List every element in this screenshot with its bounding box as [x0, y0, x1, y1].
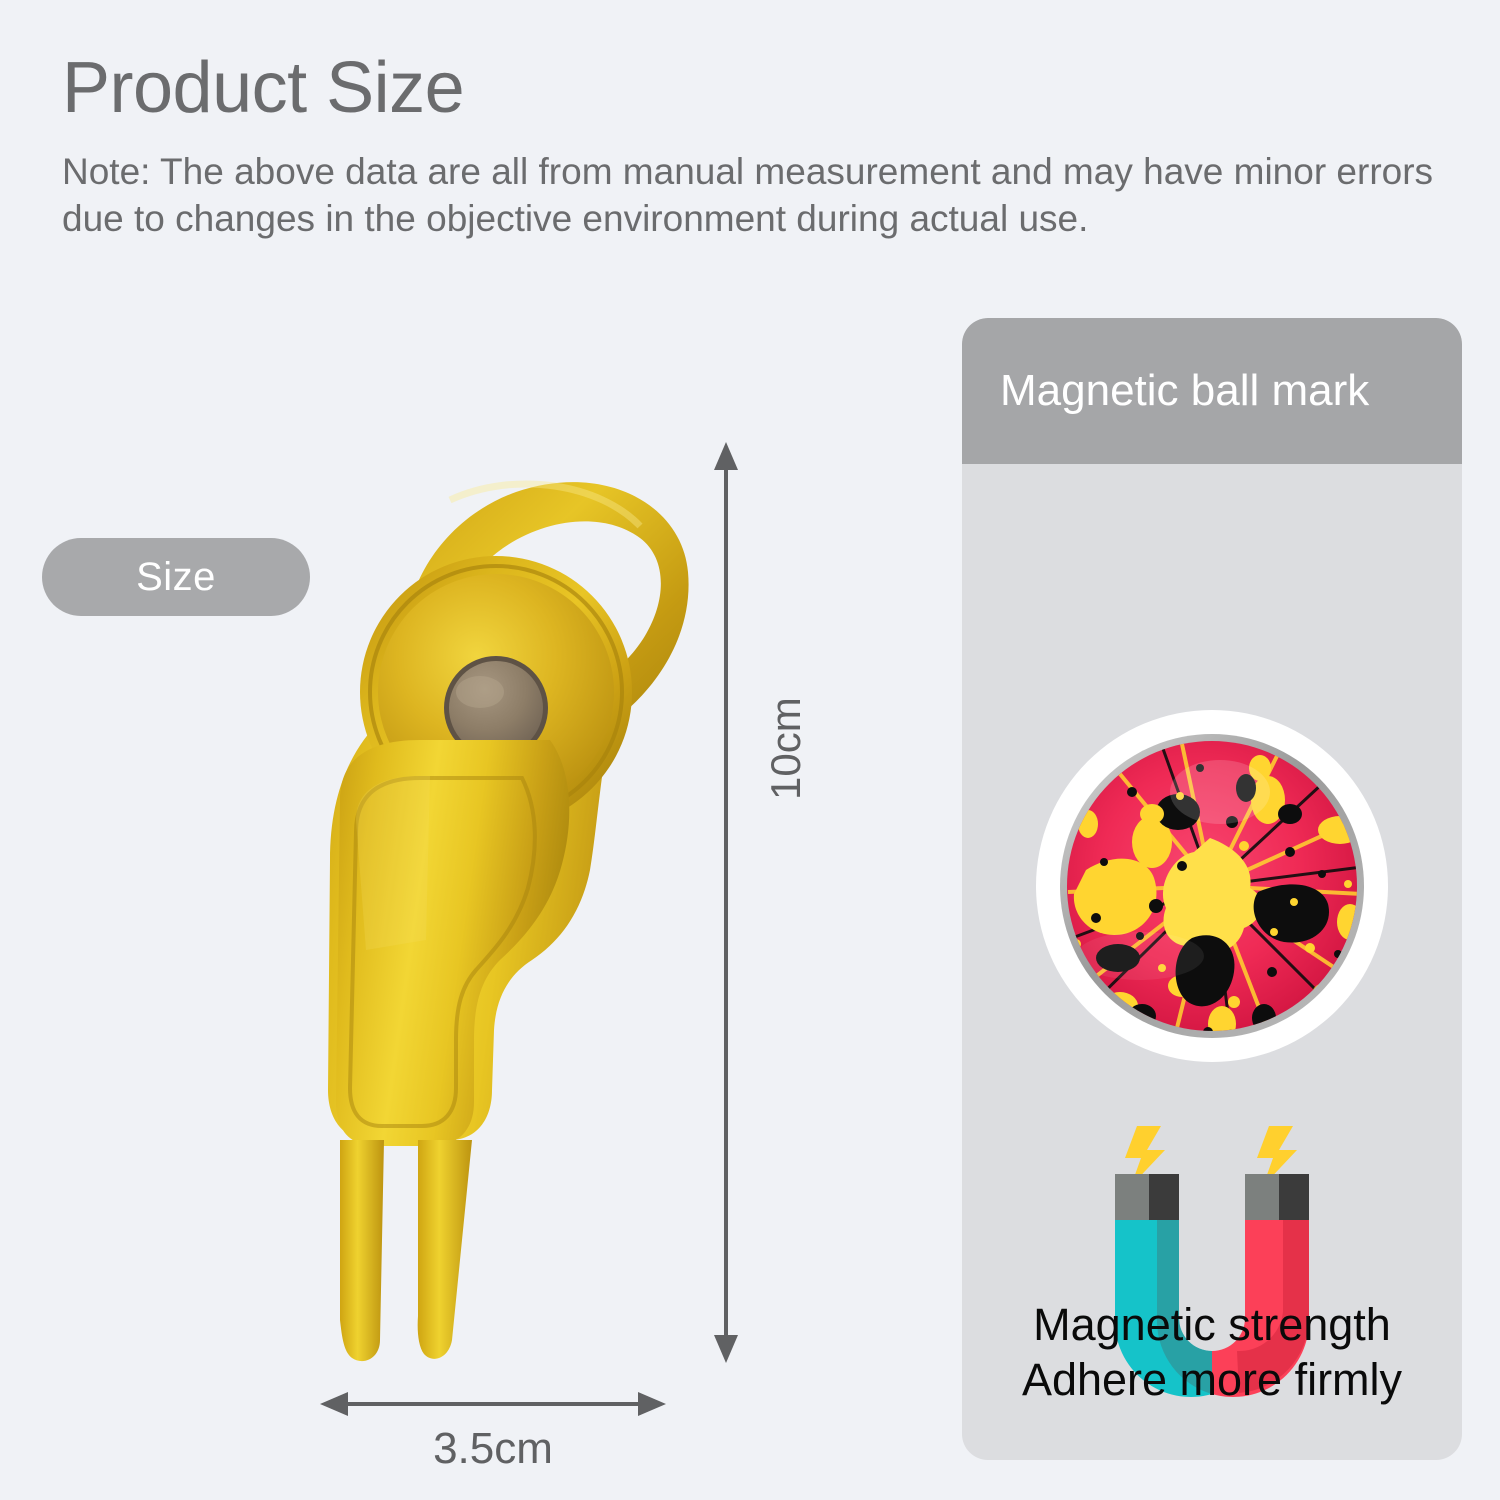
tool-prong-left — [340, 1140, 384, 1361]
size-badge-label: Size — [136, 555, 216, 600]
dimension-line-vertical — [700, 440, 756, 1365]
ball-marker-image — [1032, 706, 1392, 1066]
product-image-golf-divot-tool — [300, 440, 720, 1400]
dimension-label-width: 3.5cm — [318, 1424, 668, 1474]
panel-body: Magnetic strength Adhere more firmly — [962, 464, 1462, 1460]
tool-prong-right — [418, 1140, 472, 1359]
panel-header: Magnetic ball mark — [962, 318, 1462, 464]
caption-line-2: Adhere more firmly — [962, 1353, 1462, 1408]
dimension-arrow-horizontal-svg — [318, 1382, 668, 1426]
page-title: Product Size — [62, 52, 1462, 124]
dim-v-arrow-bottom — [714, 1335, 738, 1363]
panel-caption: Magnetic strength Adhere more firmly — [962, 1298, 1462, 1408]
dim-h-arrow-left — [320, 1392, 348, 1416]
magnetic-ball-mark-panel: Magnetic ball mark — [962, 318, 1462, 1460]
magnet-cap-right-dark — [1279, 1174, 1309, 1220]
dimension-line-horizontal — [318, 1382, 668, 1426]
ball-marker-svg — [1032, 706, 1392, 1066]
header-block: Product Size Note: The above data are al… — [62, 52, 1462, 243]
dimension-label-height: 10cm — [762, 697, 810, 800]
dimension-arrow-vertical-svg — [700, 440, 756, 1365]
panel-header-title: Magnetic ball mark — [1000, 366, 1369, 416]
dim-h-arrow-right — [638, 1392, 666, 1416]
caption-line-1: Magnetic strength — [962, 1298, 1462, 1353]
magnet-cap-right-light — [1245, 1174, 1279, 1220]
magnet-disc-highlight — [456, 676, 504, 708]
magnet-cap-left-light — [1115, 1174, 1149, 1220]
note-text: Note: The above data are all from manual… — [62, 148, 1462, 243]
tool-highlight-a — [356, 776, 430, 950]
divot-tool-illustration — [300, 440, 720, 1400]
dim-v-arrow-top — [714, 442, 738, 470]
magnet-cap-left-dark — [1149, 1174, 1179, 1220]
size-badge: Size — [42, 538, 310, 616]
